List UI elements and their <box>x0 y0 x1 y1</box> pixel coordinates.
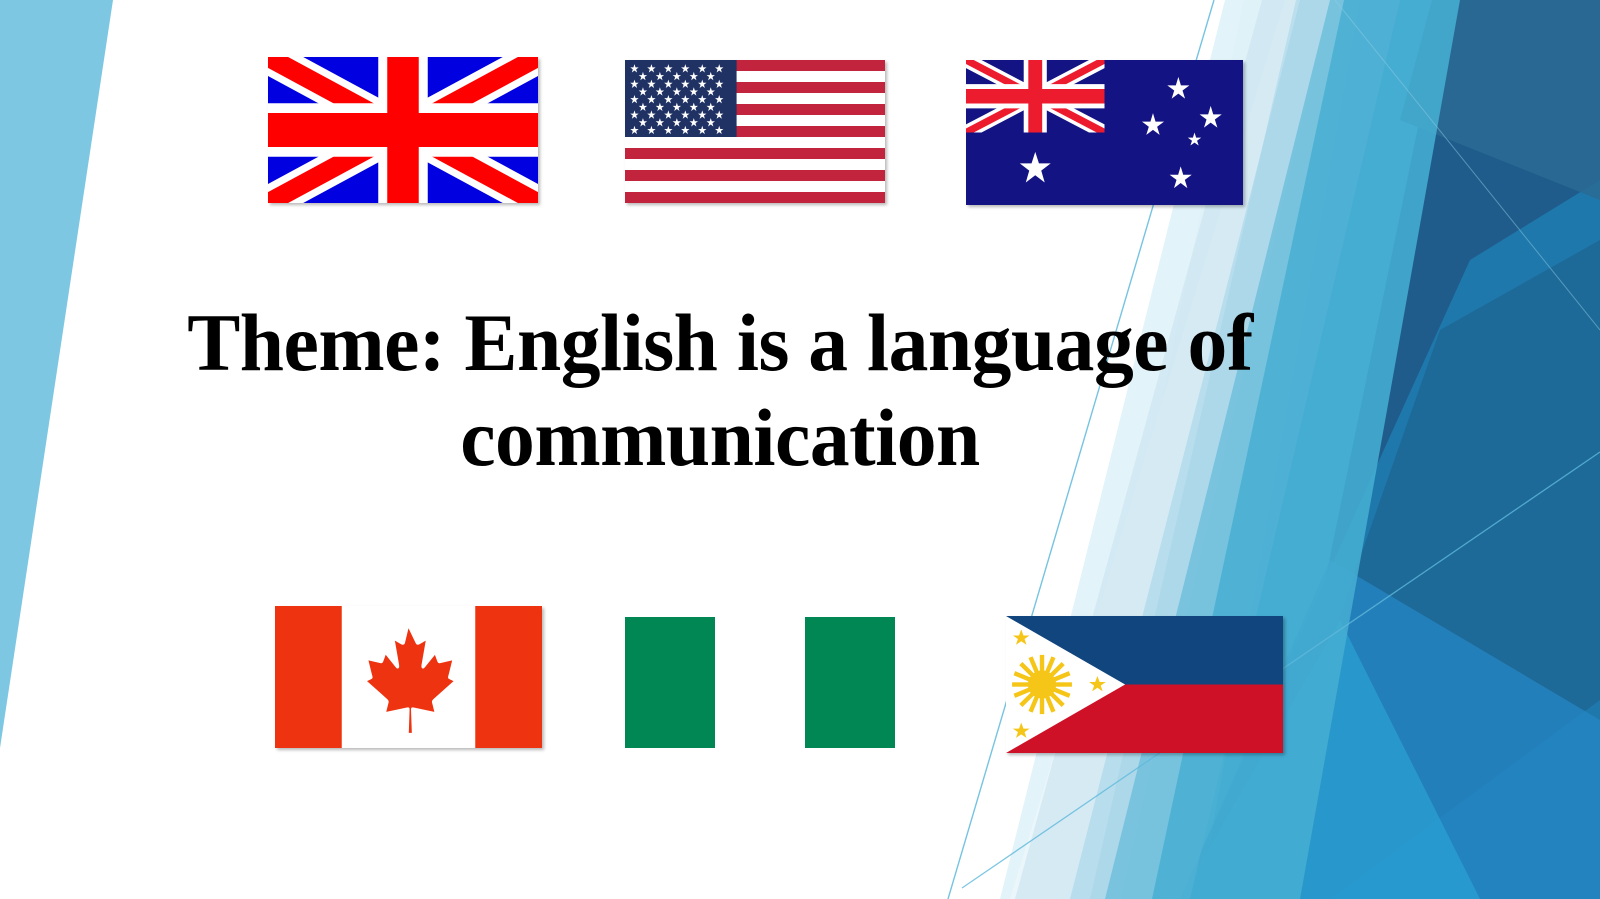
united-kingdom-flag <box>268 57 538 203</box>
bg-deep-triangle <box>1240 240 1600 899</box>
bg-hairline-3 <box>1335 0 1600 330</box>
title-block: Theme: English is a language of communic… <box>150 295 1290 485</box>
page-title: Theme: English is a language of communic… <box>167 295 1273 485</box>
philippines-flag <box>1006 616 1283 753</box>
bg-right-deep-block <box>1247 0 1600 899</box>
bg-bright-diagonal <box>1180 180 1600 899</box>
bg-left-wedge <box>0 0 113 748</box>
nigeria-flag <box>625 617 895 748</box>
presentation-slide: Theme: English is a language of communic… <box>0 0 1600 899</box>
united-states-flag <box>625 60 885 203</box>
australia-flag <box>966 60 1243 205</box>
bg-navy-slab <box>1400 0 1600 200</box>
canada-flag <box>275 606 542 748</box>
